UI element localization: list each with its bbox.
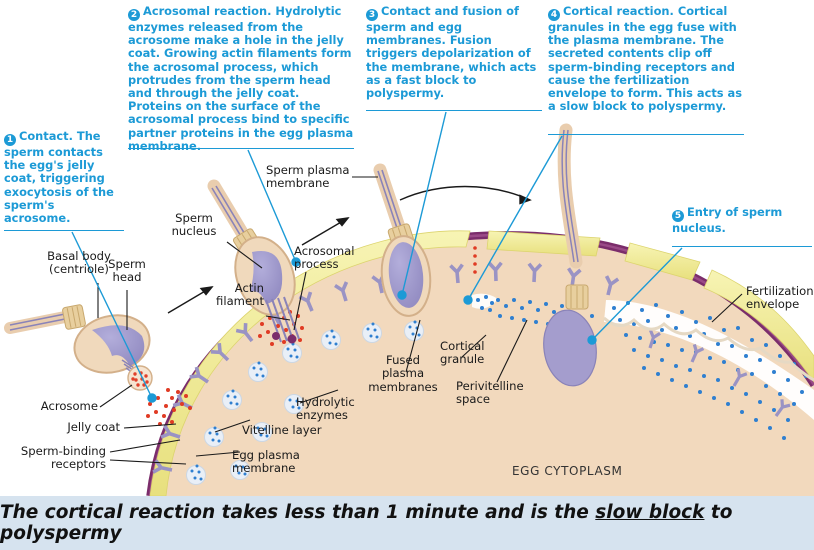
- egg-plasma-line-2: membrane: [232, 462, 324, 475]
- label-jelly-coat: Jelly coat: [20, 421, 120, 434]
- cortical-granule-line-2: granule: [440, 353, 520, 366]
- step-5-title: Entry of sperm nucleus.: [672, 205, 782, 235]
- label-perivitelline-space: Perivitelline space: [456, 380, 546, 407]
- actin-filament-line-1: Actin: [182, 282, 264, 295]
- label-hydrolytic-enzymes: Hydrolytic enzymes: [296, 396, 408, 423]
- label-egg-plasma-membrane: Egg plasma membrane: [232, 449, 324, 476]
- actin-filament-line-2: filament: [182, 295, 264, 308]
- sperm-nucleus-line-1: Sperm: [160, 212, 228, 225]
- caption-text: The cortical reaction takes less than 1 …: [0, 502, 814, 544]
- sperm-binding-line-2: receptors: [0, 458, 106, 471]
- callout-1-rule: [4, 230, 124, 231]
- acrosomal-process-line-2: process: [294, 258, 374, 271]
- fused-plasma-line-1: Fused: [360, 354, 446, 367]
- step-2-title: Acrosomal reaction.: [143, 4, 271, 18]
- sperm-head-line-2: head: [94, 271, 160, 284]
- fused-plasma-line-2: plasma: [360, 367, 446, 380]
- step-4-body: Cortical granules in the egg fuse with t…: [548, 4, 742, 113]
- callout-step-4: 4Cortical reaction. Cortical granules in…: [548, 5, 744, 113]
- figure-canvas: 1Contact. The sperm contacts the egg's j…: [0, 0, 814, 550]
- label-acrosome: Acrosome: [6, 400, 98, 413]
- fused-plasma-line-3: membranes: [360, 381, 446, 394]
- acrosomal-process-line-1: Acrosomal: [294, 245, 374, 258]
- caption-before: The cortical reaction takes less than 1 …: [0, 502, 595, 523]
- sperm-plasma-line-1: Sperm plasma: [266, 164, 362, 177]
- label-sperm-binding-receptors: Sperm-binding receptors: [0, 445, 106, 472]
- callout-5-rule: [672, 246, 812, 247]
- callout-2-rule: [128, 148, 354, 149]
- label-fused-plasma-membranes: Fused plasma membranes: [360, 354, 446, 394]
- label-sperm-nucleus: Sperm nucleus: [160, 212, 228, 239]
- label-acrosomal-process: Acrosomal process: [294, 245, 374, 272]
- label-actin-filament: Actin filament: [182, 282, 264, 309]
- callout-4-rule: [548, 134, 744, 135]
- label-vitelline-layer: Vitelline layer: [242, 424, 346, 437]
- label-cortical-granule: Cortical granule: [440, 340, 520, 367]
- cortical-granule-line-1: Cortical: [440, 340, 520, 353]
- caption-bar: The cortical reaction takes less than 1 …: [0, 496, 814, 550]
- callout-step-1: 1Contact. The sperm contacts the egg's j…: [4, 130, 124, 225]
- step-2-body: Hydrolytic enzymes released from the acr…: [128, 4, 353, 153]
- callout-step-2: 2Acrosomal reaction. Hydrolytic enzymes …: [128, 5, 354, 153]
- label-sperm-plasma-membrane: Sperm plasma membrane: [266, 164, 362, 191]
- sperm-binding-line-1: Sperm-binding: [0, 445, 106, 458]
- sperm-nucleus-line-2: nucleus: [160, 225, 228, 238]
- sperm-head-line-1: Sperm: [94, 258, 160, 271]
- perivitelline-line-2: space: [456, 393, 546, 406]
- fertilization-envelope-line-2: envelope: [746, 298, 814, 311]
- callout-step-5: 5Entry of sperm nucleus.: [672, 206, 812, 235]
- sperm-plasma-line-2: membrane: [266, 177, 362, 190]
- step-3-title: Contact and fusion of sperm and egg memb…: [366, 4, 519, 47]
- step-1-title: Contact.: [19, 129, 73, 143]
- egg-plasma-line-1: Egg plasma: [232, 449, 324, 462]
- callout-3-rule: [366, 110, 542, 111]
- label-sperm-head: Sperm head: [94, 258, 160, 285]
- callout-step-3: 3Contact and fusion of sperm and egg mem…: [366, 5, 542, 100]
- caption-emphasis: slow block: [595, 502, 704, 523]
- perivitelline-line-1: Perivitelline: [456, 380, 546, 393]
- step-1-body: The sperm contacts the egg's jelly coat,…: [4, 129, 114, 225]
- label-egg-cytoplasm: EGG CYTOPLASM: [512, 464, 622, 478]
- fertilization-envelope-line-1: Fertilization: [746, 285, 814, 298]
- step-4-title: Cortical reaction.: [563, 4, 674, 18]
- label-fertilization-envelope: Fertilization envelope: [746, 285, 814, 312]
